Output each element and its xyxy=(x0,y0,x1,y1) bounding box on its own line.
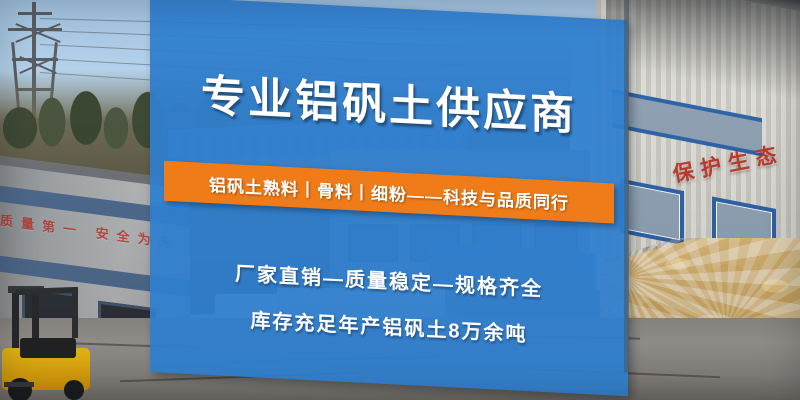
forklift xyxy=(2,286,114,400)
banner-title: 专业铝矾土供应商 xyxy=(150,72,628,140)
banner-line-2: 库存充足年产铝矾土8万余吨 xyxy=(150,299,628,352)
banner-content: 专业铝矾土供应商 铝矾土熟料丨骨料丨细粉——科技与品质同行 厂家直销—质量稳定—… xyxy=(150,0,628,400)
banner-image: 质量第一 安全为先 保护生态 xyxy=(0,0,800,400)
banner-line-1: 厂家直销—质量稳定—规格齐全 xyxy=(150,253,628,306)
orange-subtitle-text: 铝矾土熟料丨骨料丨细粉——科技与品质同行 xyxy=(209,170,569,213)
orange-subtitle-bar: 铝矾土熟料丨骨料丨细粉——科技与品质同行 xyxy=(164,161,614,224)
